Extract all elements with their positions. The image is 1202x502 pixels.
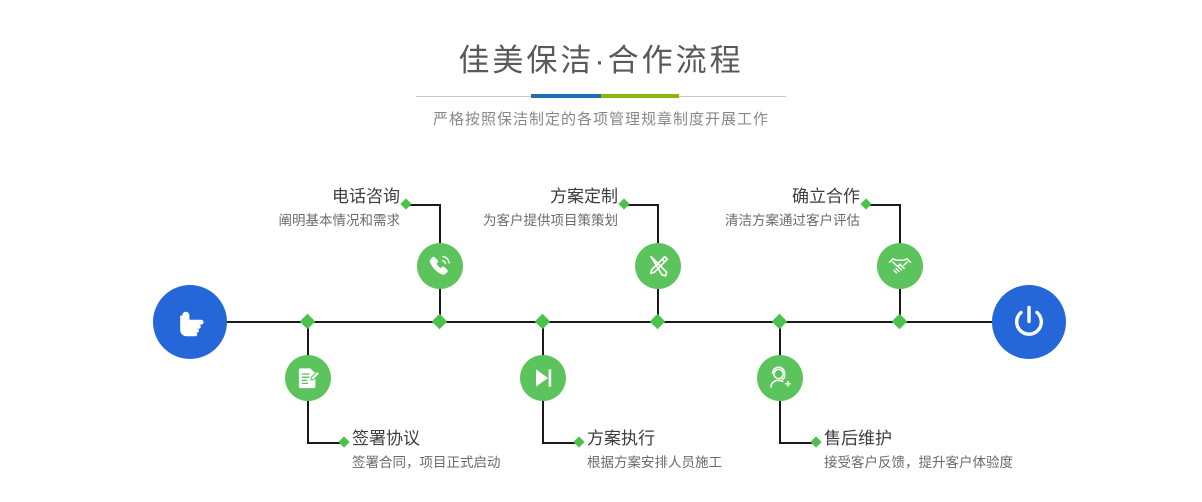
step-name-5: 确立合作 xyxy=(610,186,860,208)
axis-diamond-5 xyxy=(892,314,908,330)
step-name-2: 签署协议 xyxy=(352,428,612,450)
step-label-4: 方案执行 根据方案安排人员施工 xyxy=(587,428,847,473)
step-label-5: 确立合作 清洁方案通过客户评估 xyxy=(610,186,860,231)
step-icon-3[interactable] xyxy=(635,243,681,289)
step-name-1: 电话咨询 xyxy=(150,186,400,208)
step-desc-3: 为客户提供项目策策划 xyxy=(368,211,618,231)
step-name-4: 方案执行 xyxy=(587,428,847,450)
label-diamond-5 xyxy=(860,198,871,209)
axis-diamond-4 xyxy=(535,314,551,330)
step-desc-6: 接受客户反馈，提升客户体验度 xyxy=(824,453,1124,473)
step-name-6: 售后维护 xyxy=(824,428,1124,450)
step-label-1: 电话咨询 阐明基本情况和需求 xyxy=(150,186,400,231)
step-icon-5[interactable] xyxy=(877,243,923,289)
timeline-start-node[interactable] xyxy=(153,285,227,359)
headset-support-icon xyxy=(767,365,793,391)
pencil-design-icon xyxy=(645,253,671,279)
step-icon-4[interactable] xyxy=(520,355,566,401)
step-desc-4: 根据方案安排人员施工 xyxy=(587,453,847,473)
step-icon-2[interactable] xyxy=(285,355,331,401)
cooperation-process-infographic: 佳美保洁·合作流程 严格按照保洁制定的各项管理规章制度开展工作 xyxy=(0,0,1202,502)
step-label-3: 方案定制 为客户提供项目策策划 xyxy=(368,186,618,231)
handshake-icon xyxy=(887,253,913,279)
label-diamond-2 xyxy=(338,436,349,447)
step-name-3: 方案定制 xyxy=(368,186,618,208)
axis-diamond-3 xyxy=(650,314,666,330)
timeline-end-node[interactable] xyxy=(992,285,1066,359)
process-timeline: 电话咨询 阐明基本情况和需求 xyxy=(0,0,1202,502)
power-icon xyxy=(1008,301,1050,343)
play-forward-icon xyxy=(530,365,556,391)
step-icon-1[interactable] xyxy=(417,243,463,289)
axis-diamond-6 xyxy=(772,314,788,330)
connector-horizontal-5 xyxy=(869,204,900,206)
axis-diamond-1 xyxy=(432,314,448,330)
connector-stem-5 xyxy=(899,204,901,244)
step-label-6: 售后维护 接受客户反馈，提升客户体验度 xyxy=(824,428,1124,473)
document-pen-icon xyxy=(295,365,321,391)
step-icon-6[interactable] xyxy=(757,355,803,401)
step-desc-2: 签署合同，项目正式启动 xyxy=(352,453,612,473)
phone-call-icon xyxy=(427,253,453,279)
connector-stem-2 xyxy=(307,400,309,443)
pointing-hand-icon xyxy=(170,302,210,342)
step-desc-1: 阐明基本情况和需求 xyxy=(150,211,400,231)
step-label-2: 签署协议 签署合同，项目正式启动 xyxy=(352,428,612,473)
step-desc-5: 清洁方案通过客户评估 xyxy=(610,211,860,231)
axis-diamond-2 xyxy=(300,314,316,330)
